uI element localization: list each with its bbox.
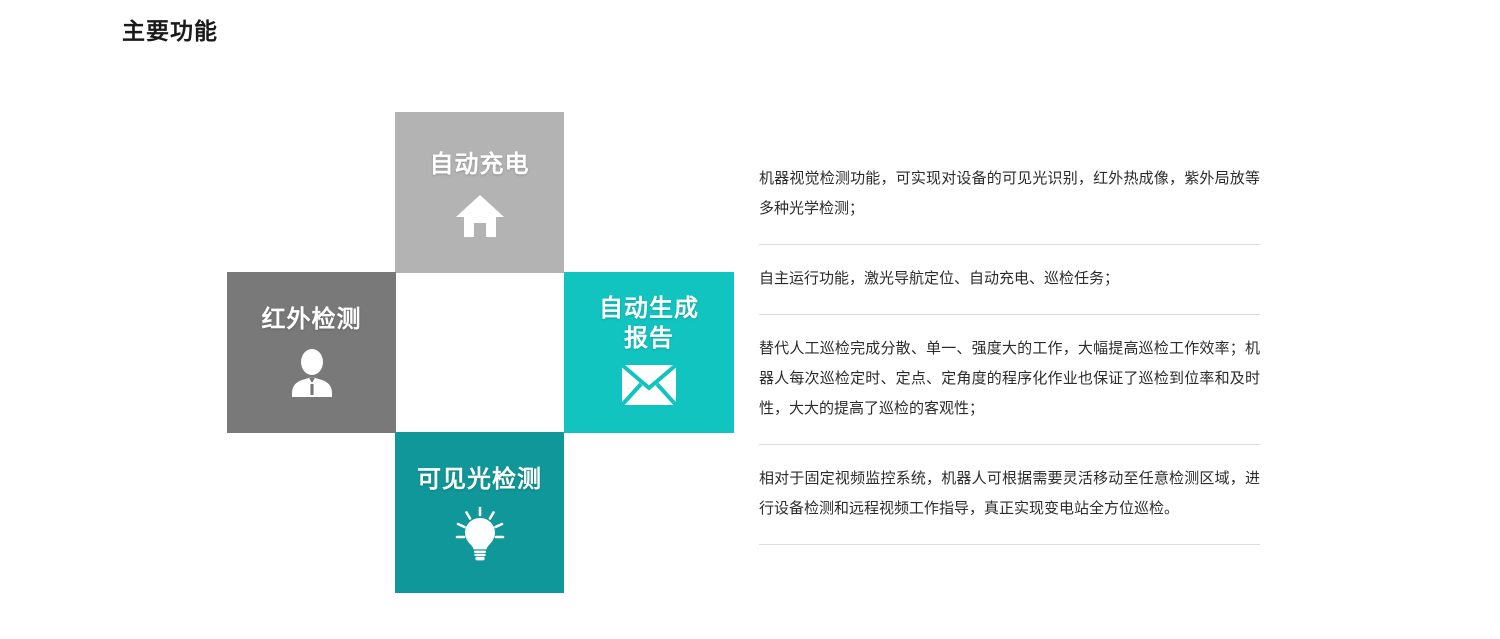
lightbulb-icon (452, 508, 508, 560)
divider-1 (759, 244, 1260, 245)
feature-cross-diagram: 自动充电 红外检测 自动生成 报告 (227, 112, 737, 587)
tile-infrared-detection[interactable]: 红外检测 (227, 272, 396, 433)
divider-4 (759, 544, 1260, 545)
description-paragraph-2: 自主运行功能，激光导航定位、自动充电、巡检任务； (759, 263, 1260, 299)
person-icon (284, 348, 340, 400)
description-paragraph-4: 相对于固定视频监控系统，机器人可根据需要灵活移动至任意检测区域，进行设备检测和远… (759, 463, 1260, 529)
description-paragraph-3: 替代人工巡检完成分散、单一、强度大的工作，大幅提高巡检工作效率；机器人每次巡检定… (759, 333, 1260, 429)
tile-auto-report[interactable]: 自动生成 报告 (564, 272, 734, 433)
description-paragraph-1: 机器视觉检测功能，可实现对设备的可见光识别，红外热成像，紫外局放等多种光学检测； (759, 163, 1260, 229)
description-panel: 机器视觉检测功能，可实现对设备的可见光识别，红外热成像，紫外局放等多种光学检测；… (759, 148, 1260, 545)
tile-visible-light-detection[interactable]: 可见光检测 (395, 432, 564, 593)
divider-2 (759, 314, 1260, 315)
tile-infrared-detection-label: 红外检测 (262, 305, 362, 334)
tile-visible-light-detection-label: 可见光检测 (417, 465, 542, 494)
home-icon (452, 189, 508, 241)
tile-auto-charging[interactable]: 自动充电 (395, 112, 564, 273)
tile-auto-charging-label: 自动充电 (430, 150, 530, 179)
page-title: 主要功能 (122, 18, 218, 46)
tile-auto-report-label: 自动生成 报告 (599, 294, 699, 353)
divider-3 (759, 444, 1260, 445)
envelope-icon (621, 359, 677, 411)
